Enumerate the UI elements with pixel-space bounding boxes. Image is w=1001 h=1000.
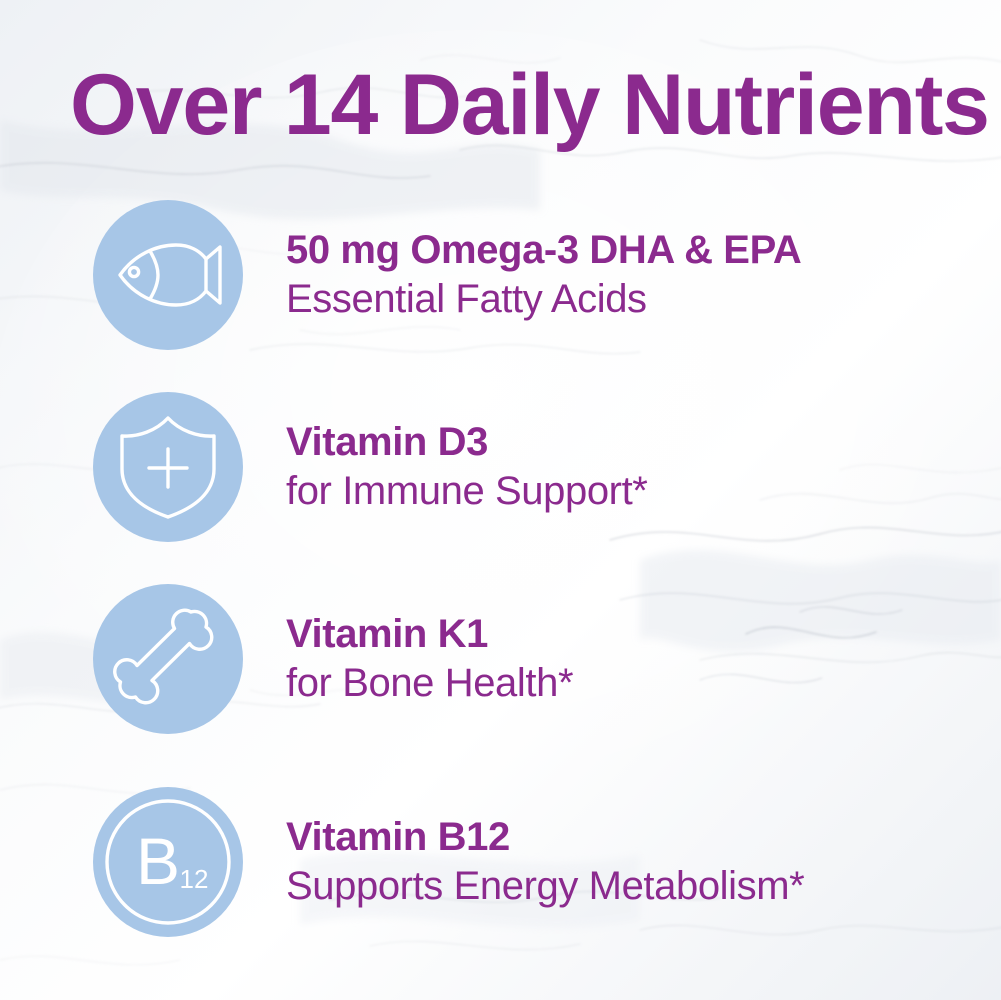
- shield-plus-icon-badge: [93, 392, 243, 542]
- nutrient-row: Vitamin K1 for Bone Health*: [0, 584, 1001, 734]
- nutrient-secondary-label: Supports Energy Metabolism*: [286, 862, 986, 911]
- nutrient-row: B 12 Vitamin B12 Supports Energy Metabol…: [0, 787, 1001, 937]
- nutrient-text: Vitamin B12 Supports Energy Metabolism*: [286, 813, 986, 911]
- page-title: Over 14 Daily Nutrients: [70, 62, 960, 150]
- b12-circle-icon-badge: B 12: [93, 787, 243, 937]
- nutrient-text: 50 mg Omega-3 DHA & EPA Essential Fatty …: [286, 226, 986, 324]
- b12-circle-icon: B 12: [102, 796, 234, 928]
- nutrient-row: Vitamin D3 for Immune Support*: [0, 392, 1001, 542]
- fish-icon: [112, 219, 224, 331]
- nutrient-secondary-label: for Immune Support*: [286, 467, 986, 516]
- nutrient-row: 50 mg Omega-3 DHA & EPA Essential Fatty …: [0, 200, 1001, 350]
- nutrient-primary-label: Vitamin B12: [286, 813, 986, 862]
- nutrient-primary-label: 50 mg Omega-3 DHA & EPA: [286, 226, 986, 275]
- shield-plus-icon: [116, 413, 220, 521]
- nutrient-primary-label: Vitamin K1: [286, 610, 986, 659]
- svg-text:B: B: [136, 824, 180, 898]
- fish-icon-badge: [93, 200, 243, 350]
- bone-icon-badge: [93, 584, 243, 734]
- nutrient-secondary-label: for Bone Health*: [286, 659, 986, 708]
- bone-icon: [113, 604, 223, 714]
- nutrient-text: Vitamin D3 for Immune Support*: [286, 418, 986, 516]
- nutrient-primary-label: Vitamin D3: [286, 418, 986, 467]
- nutrient-text: Vitamin K1 for Bone Health*: [286, 610, 986, 708]
- svg-text:12: 12: [180, 864, 209, 894]
- nutrient-secondary-label: Essential Fatty Acids: [286, 275, 986, 324]
